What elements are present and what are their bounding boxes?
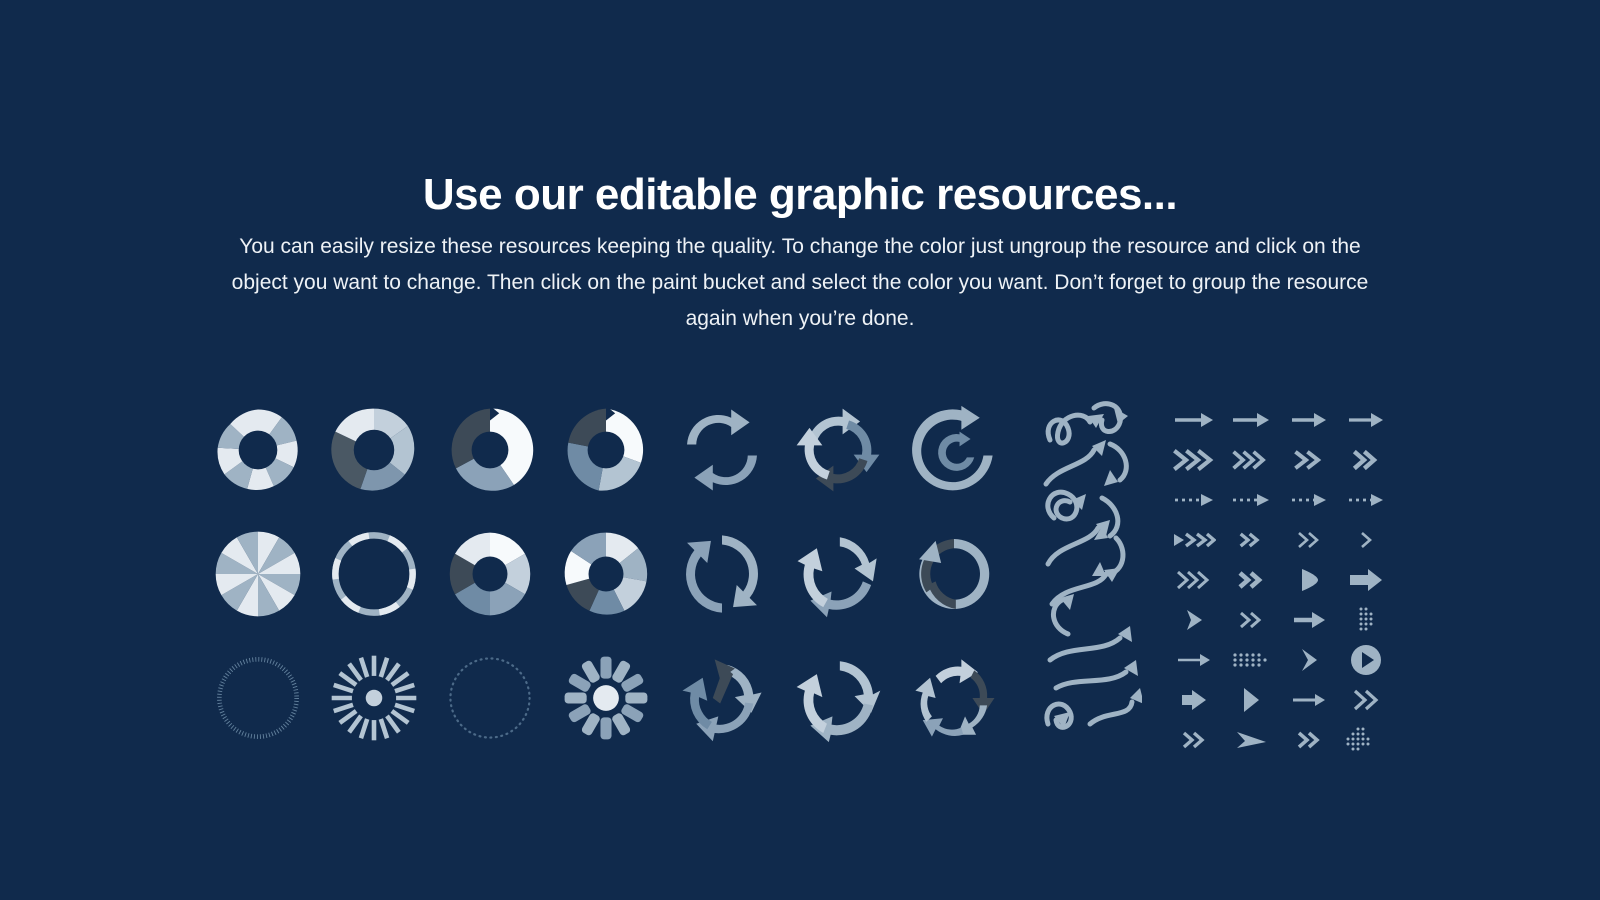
chevron-double-right-icon[interactable] [1283, 720, 1335, 760]
arrow-right-thin-icon[interactable] [1225, 400, 1277, 440]
dotted-circle-sparse[interactable] [432, 640, 548, 756]
arrow-right-dashed-icon[interactable] [1283, 480, 1335, 520]
header: Use our editable graphic resources... Yo… [0, 170, 1600, 336]
donut-seven-segment-arrows[interactable] [548, 516, 664, 632]
chevron-thin-single-icon[interactable] [1168, 600, 1220, 640]
arrow-right-solid-icon[interactable] [1283, 600, 1335, 640]
donut-four-segment-arrows[interactable] [548, 392, 664, 508]
arrow-right-dashed-icon[interactable] [1340, 480, 1392, 520]
chevron-double-small-icon[interactable] [1168, 720, 1220, 760]
slide-root: Use our editable graphic resources... Yo… [0, 0, 1600, 900]
triangle-right-solid-icon[interactable] [1225, 680, 1277, 720]
arrow-right-thin-icon[interactable] [1168, 400, 1220, 440]
three-arrow-cycle-dark-accent[interactable] [664, 640, 780, 756]
five-arrow-loose-cycle[interactable] [896, 640, 1012, 756]
pie-twelve-wedge[interactable] [200, 516, 316, 632]
thin-ring-dashed[interactable] [316, 516, 432, 632]
two-curved-arrows-opposing[interactable] [664, 392, 780, 508]
chevron-single-outline-icon[interactable] [1340, 520, 1392, 560]
two-arc-arrows-cycle[interactable] [664, 516, 780, 632]
chevron-graded-solid-icon[interactable] [1168, 520, 1220, 560]
donut-five-segment-arrows[interactable] [316, 392, 432, 508]
chevron-triple-outline-icon[interactable] [1168, 560, 1220, 600]
chevron-double-bold-icon[interactable] [1225, 560, 1277, 600]
arrow-tab-right-icon[interactable] [1168, 680, 1220, 720]
arrow-halftone-dots-icon[interactable] [1340, 720, 1392, 760]
chevron-double-right-icon[interactable] [1283, 440, 1335, 480]
arrow-right-dashed-icon[interactable] [1168, 480, 1220, 520]
arrow-right-thin-icon[interactable] [1283, 400, 1335, 440]
arrow-icons-grid [1165, 400, 1395, 748]
donut-six-segment-arrows[interactable] [432, 516, 548, 632]
donut-three-segment-arrows-dark[interactable] [432, 392, 548, 508]
chevron-solid-single-icon[interactable] [1283, 640, 1335, 680]
spiral-double-arrow[interactable] [896, 392, 1012, 508]
chevron-triple-right-icon[interactable] [1225, 440, 1277, 480]
graphic-resources-gallery [200, 388, 1400, 760]
arrow-right-dashed-icon[interactable] [1225, 480, 1277, 520]
refresh-arrow-two-tone[interactable] [896, 516, 1012, 632]
three-arc-arrows-cycle[interactable] [780, 516, 896, 632]
arrow-block-right-icon[interactable] [1340, 560, 1392, 600]
arrow-halftone-dots-icon[interactable] [1225, 640, 1277, 680]
play-button-circle-icon[interactable] [1340, 640, 1392, 680]
arrow-right-thin-icon[interactable] [1340, 400, 1392, 440]
arrow-dotted-halftone-icon[interactable] [1340, 600, 1392, 640]
chevron-double-thin-icon[interactable] [1225, 600, 1277, 640]
page-subtitle: You can easily resize these resources ke… [230, 229, 1370, 336]
radial-burst-spokes[interactable] [316, 640, 432, 756]
arrow-right-line-icon[interactable] [1283, 680, 1335, 720]
arrow-right-thick-icon[interactable] [1168, 640, 1220, 680]
segmented-donut-10-slice[interactable] [200, 392, 316, 508]
flower-donut-twelve-petal[interactable] [548, 640, 664, 756]
triangle-flag-right-icon[interactable] [1225, 720, 1277, 760]
chevron-double-right-tight-icon[interactable] [1340, 440, 1392, 480]
chevron-triple-right-icon[interactable] [1168, 440, 1220, 480]
page-title: Use our editable graphic resources... [0, 170, 1600, 219]
decorative-swirl-arrows[interactable] [1032, 388, 1142, 760]
circle-graphics-grid [200, 388, 1010, 760]
chevron-double-outline-icon[interactable] [1283, 520, 1335, 560]
chevron-double-small-icon[interactable] [1225, 520, 1277, 560]
triangle-play-right-icon[interactable] [1283, 560, 1335, 600]
chevron-double-outline-lg-icon[interactable] [1340, 680, 1392, 720]
four-arrow-cycle[interactable] [780, 392, 896, 508]
dotted-circle-dense[interactable] [200, 640, 316, 756]
three-arc-cycle-large[interactable] [780, 640, 896, 756]
